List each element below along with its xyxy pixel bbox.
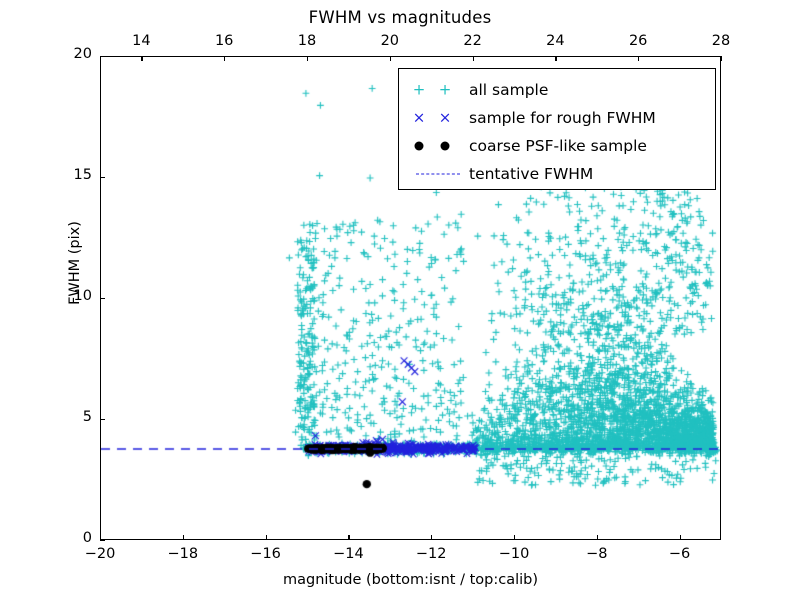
y-tick [100, 56, 105, 57]
x-tick-label-top: 16 [215, 33, 233, 49]
x-tick-top [141, 56, 142, 61]
legend-marker-dot-icon [407, 131, 469, 161]
legend-marker-dashed-line-icon [407, 159, 469, 189]
y-tick-label: 0 [83, 530, 92, 546]
legend-label: coarse PSF-like sample [469, 137, 647, 155]
y-tick-label: 15 [74, 167, 92, 183]
y-tick [100, 177, 105, 178]
x-tick [348, 535, 349, 540]
x-tick-label-top: 28 [712, 33, 730, 49]
legend-marker-cross-icon: ×× [407, 103, 469, 133]
x-tick-top [721, 56, 722, 61]
x-tick-label: −18 [167, 546, 198, 562]
x-tick-label: −12 [416, 546, 447, 562]
x-tick [183, 535, 184, 540]
x-tick-label: −20 [85, 546, 116, 562]
y-tick [100, 540, 105, 541]
x-tick-top [390, 56, 391, 61]
x-tick-label: −8 [586, 546, 607, 562]
x-tick-top [638, 56, 639, 61]
x-tick-label: −6 [669, 546, 690, 562]
x-tick [266, 535, 267, 540]
x-tick [514, 535, 515, 540]
legend-item[interactable]: ××sample for rough FWHM [399, 103, 717, 133]
y-axis-label: FWHM (pix) [67, 183, 83, 343]
y-tick [100, 419, 105, 420]
x-tick-label-top: 20 [381, 33, 399, 49]
x-tick [431, 535, 432, 540]
x-tick-label: −10 [499, 546, 530, 562]
x-tick-label-top: 18 [298, 33, 316, 49]
y-tick-label: 5 [83, 409, 92, 425]
legend: ++all sample××sample for rough FWHMcoars… [398, 68, 716, 190]
legend-label: sample for rough FWHM [469, 109, 656, 127]
x-tick-top [473, 56, 474, 61]
x-tick-label-top: 22 [463, 33, 481, 49]
legend-item[interactable]: tentative FWHM [399, 159, 717, 189]
x-tick [680, 535, 681, 540]
y-tick-label: 20 [74, 46, 92, 62]
x-tick-label: −16 [250, 546, 281, 562]
legend-item[interactable]: ++all sample [399, 75, 717, 105]
legend-label: tentative FWHM [469, 165, 593, 183]
x-tick-top [555, 56, 556, 61]
x-tick [597, 535, 598, 540]
page-title: FWHM vs magnitudes [0, 8, 800, 27]
y-tick [100, 298, 105, 299]
x-tick-top [307, 56, 308, 61]
x-tick-label-top: 24 [546, 33, 564, 49]
x-tick-label-top: 26 [629, 33, 647, 49]
legend-item[interactable]: coarse PSF-like sample [399, 131, 717, 161]
x-tick-label-top: 14 [132, 33, 150, 49]
x-tick-top [224, 56, 225, 61]
legend-marker-plus-icon: ++ [407, 75, 469, 105]
x-axis-label: magnitude (bottom:isnt / top:calib) [100, 572, 721, 588]
matplotlib-figure: FWHM vs magnitudes −20−18−16−14−12−10−8−… [0, 0, 800, 600]
legend-label: all sample [469, 81, 548, 99]
x-tick-label: −14 [333, 546, 364, 562]
